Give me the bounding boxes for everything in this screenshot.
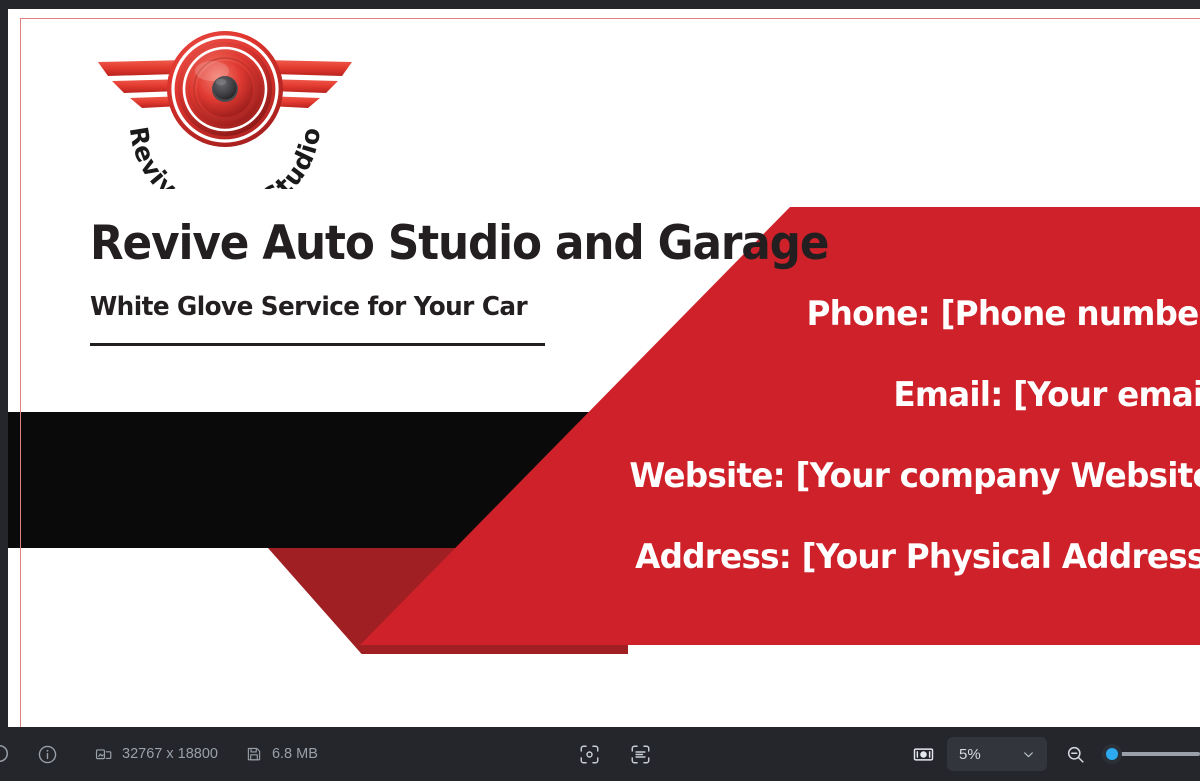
zoom-slider[interactable] bbox=[1102, 744, 1200, 764]
file-size-value: 6.8 MB bbox=[272, 746, 318, 762]
zoom-level-select[interactable]: 5% bbox=[947, 737, 1047, 771]
contact-phone: Phone: [Phone number] bbox=[556, 297, 1200, 331]
logo-emblem-icon: Revive Auto Studio bbox=[90, 27, 360, 189]
contact-details-block[interactable]: Phone: [Phone number] Email: [Your email… bbox=[528, 297, 1200, 574]
contact-address: Address: [Your Physical Address} bbox=[556, 540, 1200, 574]
scan-text-icon[interactable] bbox=[629, 743, 652, 766]
file-size-group: 6.8 MB bbox=[245, 745, 318, 763]
image-dimensions-icon bbox=[94, 745, 113, 764]
contact-website: Website: [Your company Website] bbox=[556, 459, 1200, 493]
save-disk-icon bbox=[245, 745, 263, 763]
company-logo[interactable]: Revive Auto Studio bbox=[90, 27, 360, 189]
contact-email: Email: [Your email] bbox=[556, 378, 1200, 412]
status-bar-center-group bbox=[318, 743, 912, 766]
zoom-level-value: 5% bbox=[959, 746, 981, 763]
image-dimensions-value: 32767 x 18800 bbox=[122, 746, 218, 762]
title-underline-rule bbox=[90, 343, 545, 346]
zoom-out-icon[interactable] bbox=[1065, 744, 1086, 765]
slide-artboard[interactable]: Revive Auto Studio Revive Auto Studio an… bbox=[8, 9, 1200, 727]
comment-bubble-icon[interactable] bbox=[0, 743, 10, 765]
status-bar: 32767 x 18800 6.8 MB bbox=[0, 727, 1200, 781]
status-bar-left-group: 32767 x 18800 6.8 MB bbox=[0, 743, 318, 765]
status-bar-right-group: 5% bbox=[912, 737, 1200, 771]
brand-title: Revive Auto Studio and Garage bbox=[90, 219, 685, 268]
canvas-area[interactable]: Revive Auto Studio Revive Auto Studio an… bbox=[0, 0, 1200, 727]
scan-object-icon[interactable] bbox=[578, 743, 601, 766]
image-dimensions-group: 32767 x 18800 bbox=[94, 745, 218, 764]
zoom-slider-thumb[interactable] bbox=[1102, 744, 1122, 764]
chevron-down-icon bbox=[1022, 748, 1035, 761]
fit-to-screen-icon[interactable] bbox=[912, 743, 935, 766]
image-editor-window: Revive Auto Studio Revive Auto Studio an… bbox=[0, 0, 1200, 781]
info-circle-icon[interactable] bbox=[37, 744, 58, 765]
